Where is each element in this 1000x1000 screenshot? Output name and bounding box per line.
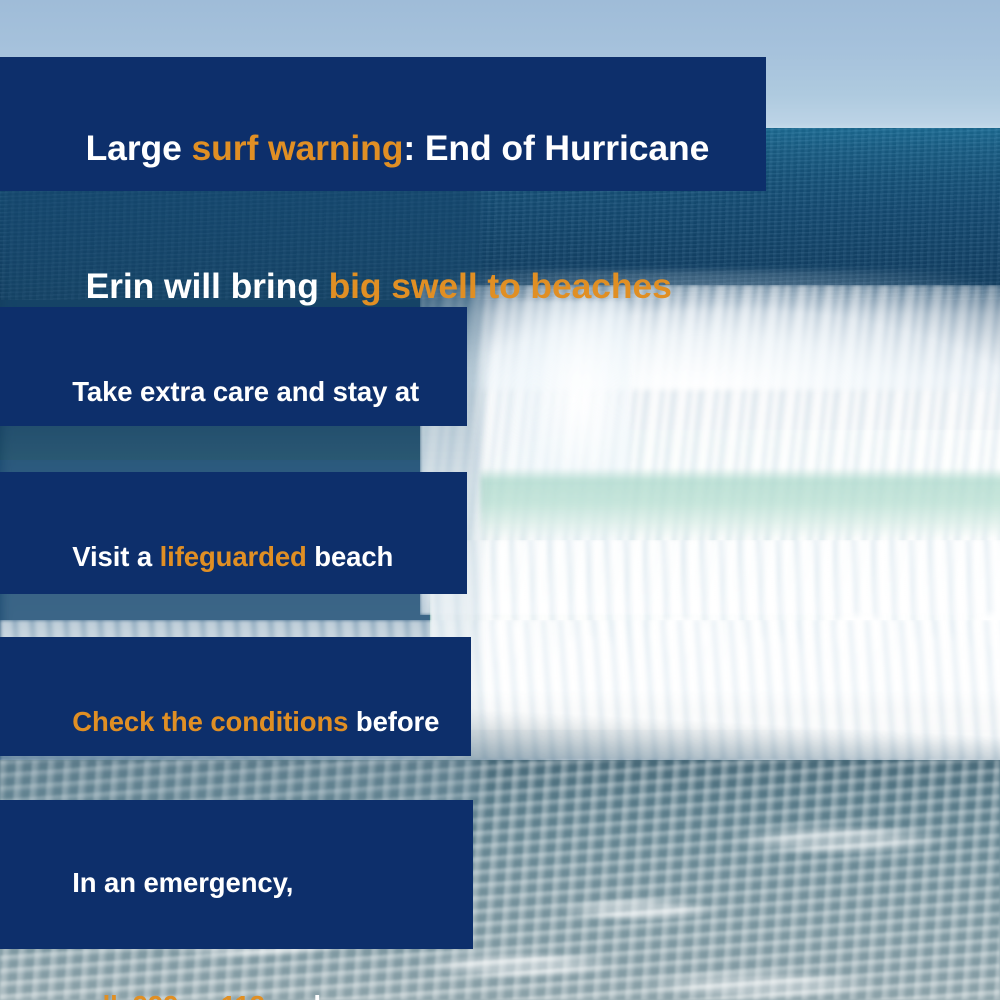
wave-aqua-band xyxy=(480,468,1000,538)
headline-seg-4: Erin will bring xyxy=(86,266,329,306)
advice-panel-emergency: In an emergency, call 999 or 112 and ask… xyxy=(0,800,473,949)
headline-highlight-surf-warning: surf warning xyxy=(192,128,404,168)
lifeguard-highlight-lifeguarded: lifeguarded xyxy=(160,541,307,572)
emergency-line-1: In an emergency, xyxy=(27,821,453,944)
emergency-seg-1: In an emergency, xyxy=(72,867,293,898)
surf-warning-poster: Large surf warning: End of Hurricane Eri… xyxy=(0,0,1000,1000)
lifeguard-line-1: Visit a lifeguarded beach xyxy=(27,494,447,620)
emergency-line-2: call 999 or 112 and xyxy=(27,944,453,1000)
lifeguard-seg-3: beach xyxy=(307,541,394,572)
conditions-line-1: Check the conditions before xyxy=(27,659,451,785)
advice-panel-lifeguarded-beach: Visit a lifeguarded beach between 10am a… xyxy=(0,472,467,594)
headline-seg-3: : End of Hurricane xyxy=(403,128,709,168)
emergency-highlight-call-numbers: call 999 or 112 xyxy=(72,990,265,1000)
headline-line-1: Large surf warning: End of Hurricane xyxy=(27,79,740,217)
headline-highlight-big-swell: big swell to beaches xyxy=(329,266,672,306)
emergency-seg-3: and xyxy=(265,990,321,1000)
care-seg-1: Take extra care and stay at xyxy=(72,376,419,407)
care-line-1: Take extra care and stay at xyxy=(27,329,447,455)
conditions-highlight-check-the-conditions: Check the conditions xyxy=(72,706,348,737)
advice-panel-take-extra-care: Take extra care and stay at a safe dista… xyxy=(0,307,467,426)
headline-seg-1: Large xyxy=(86,128,192,168)
lifeguard-seg-1: Visit a xyxy=(72,541,159,572)
headline-panel: Large surf warning: End of Hurricane Eri… xyxy=(0,57,766,191)
advice-panel-check-conditions: Check the conditions before entering the… xyxy=(0,637,471,756)
conditions-seg-2: before xyxy=(348,706,439,737)
